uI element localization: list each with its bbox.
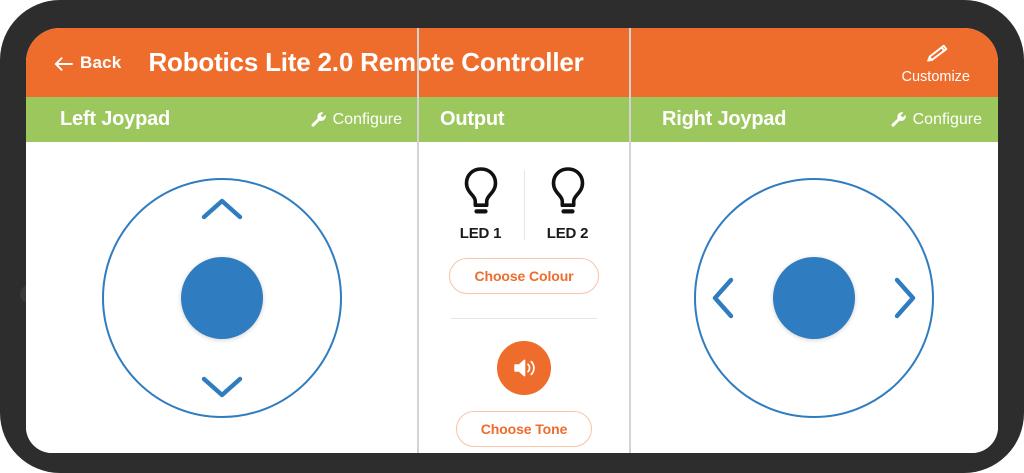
led-1[interactable]: LED 1 xyxy=(438,166,524,242)
wrench-icon xyxy=(310,111,327,128)
panel-divider-left xyxy=(417,28,419,453)
speaker-volume-icon xyxy=(510,354,538,382)
panels-container: LED 1 LED 2 Choose Colour xyxy=(26,142,998,453)
panel-header-bar: Left Joypad Configure Output Right Joypa… xyxy=(26,97,998,142)
choose-colour-button[interactable]: Choose Colour xyxy=(449,258,598,294)
customize-label: Customize xyxy=(902,69,971,84)
configure-button-left[interactable]: Configure xyxy=(310,111,402,129)
panel-divider-right xyxy=(629,28,631,453)
led-1-label: LED 1 xyxy=(460,225,502,242)
output-panel: LED 1 LED 2 Choose Colour xyxy=(418,142,630,453)
panel-header-right-joypad: Right Joypad Configure xyxy=(630,97,998,142)
led-row: LED 1 LED 2 xyxy=(438,166,611,242)
device-screen: Back Robotics Lite 2.0 Remote Controller… xyxy=(26,28,998,453)
left-joypad-title: Left Joypad xyxy=(60,108,170,131)
app-header: Back Robotics Lite 2.0 Remote Controller… xyxy=(26,28,998,97)
left-joypad-panel xyxy=(26,142,418,453)
tablet-device-frame: Back Robotics Lite 2.0 Remote Controller… xyxy=(0,0,1024,473)
chevron-up-icon[interactable] xyxy=(200,196,244,222)
configure-label-left: Configure xyxy=(333,111,402,129)
right-joypad-ring[interactable] xyxy=(694,178,934,418)
customize-button[interactable]: Customize xyxy=(902,41,971,84)
lightbulb-icon xyxy=(548,166,588,218)
chevron-down-icon[interactable] xyxy=(200,374,244,400)
lightbulb-icon xyxy=(461,166,501,218)
led-2-label: LED 2 xyxy=(547,225,589,242)
output-title: Output xyxy=(440,108,504,131)
right-joypad-title: Right Joypad xyxy=(662,108,786,131)
back-button[interactable]: Back xyxy=(54,53,121,73)
choose-tone-button[interactable]: Choose Tone xyxy=(456,411,593,447)
page-title: Robotics Lite 2.0 Remote Controller xyxy=(148,47,583,78)
chevron-left-icon[interactable] xyxy=(710,276,736,320)
output-section-divider xyxy=(451,318,597,319)
configure-label-right: Configure xyxy=(913,111,982,129)
configure-button-right[interactable]: Configure xyxy=(890,111,982,129)
right-joypad-panel xyxy=(630,142,998,453)
left-joypad-ring[interactable] xyxy=(102,178,342,418)
led-2[interactable]: LED 2 xyxy=(525,166,611,242)
panel-header-output: Output xyxy=(418,97,630,142)
left-joystick-knob[interactable] xyxy=(181,257,263,339)
wrench-icon xyxy=(890,111,907,128)
speaker-button[interactable] xyxy=(497,341,551,395)
back-button-label: Back xyxy=(80,53,121,73)
pencil-icon xyxy=(923,41,949,67)
chevron-right-icon[interactable] xyxy=(892,276,918,320)
panel-header-left-joypad: Left Joypad Configure xyxy=(26,97,418,142)
right-joystick-knob[interactable] xyxy=(773,257,855,339)
arrow-left-icon xyxy=(54,56,73,70)
